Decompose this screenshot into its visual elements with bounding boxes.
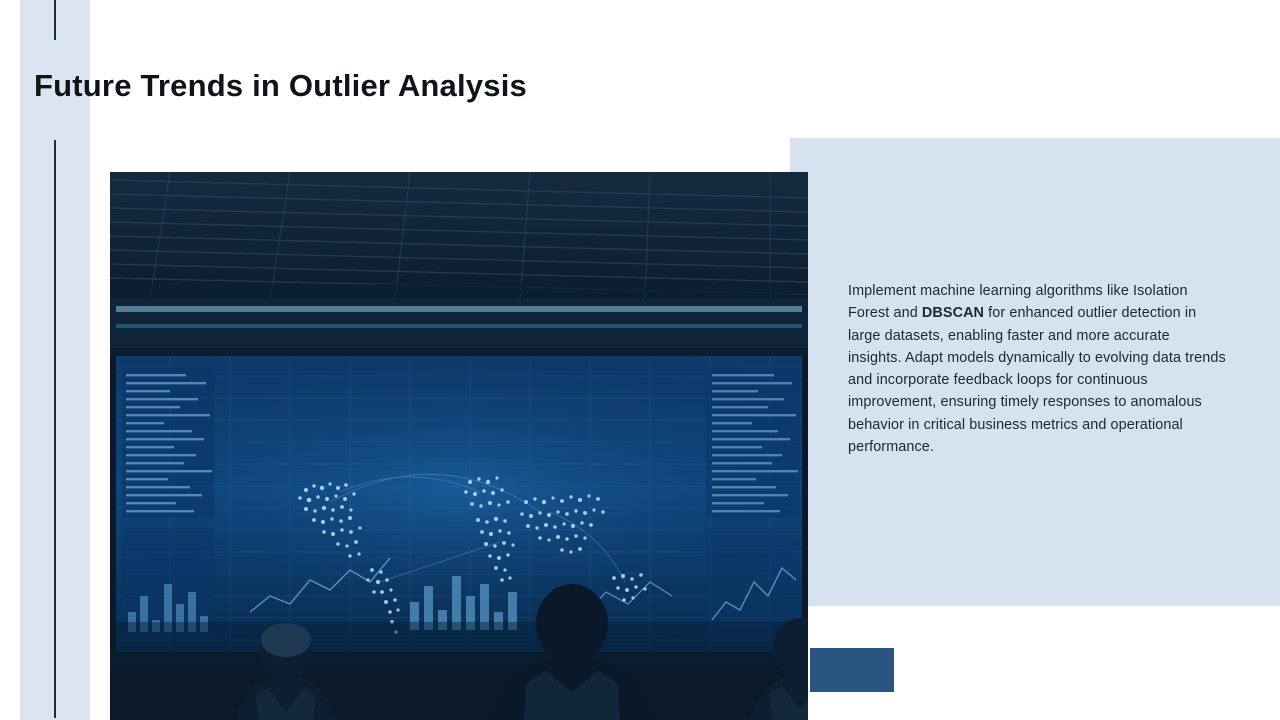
conference-room-photo	[110, 172, 808, 720]
left-vertical-rule-top	[54, 0, 56, 40]
body-paragraph: Implement machine learning algorithms li…	[848, 280, 1226, 458]
left-vertical-rule-bottom	[54, 140, 56, 718]
bottom-accent-block	[810, 648, 894, 692]
body-text-run: for enhanced outlier detection in large …	[848, 305, 1226, 455]
page-title: Future Trends in Outlier Analysis	[34, 68, 527, 104]
body-text-emphasis: DBSCAN	[922, 305, 984, 321]
